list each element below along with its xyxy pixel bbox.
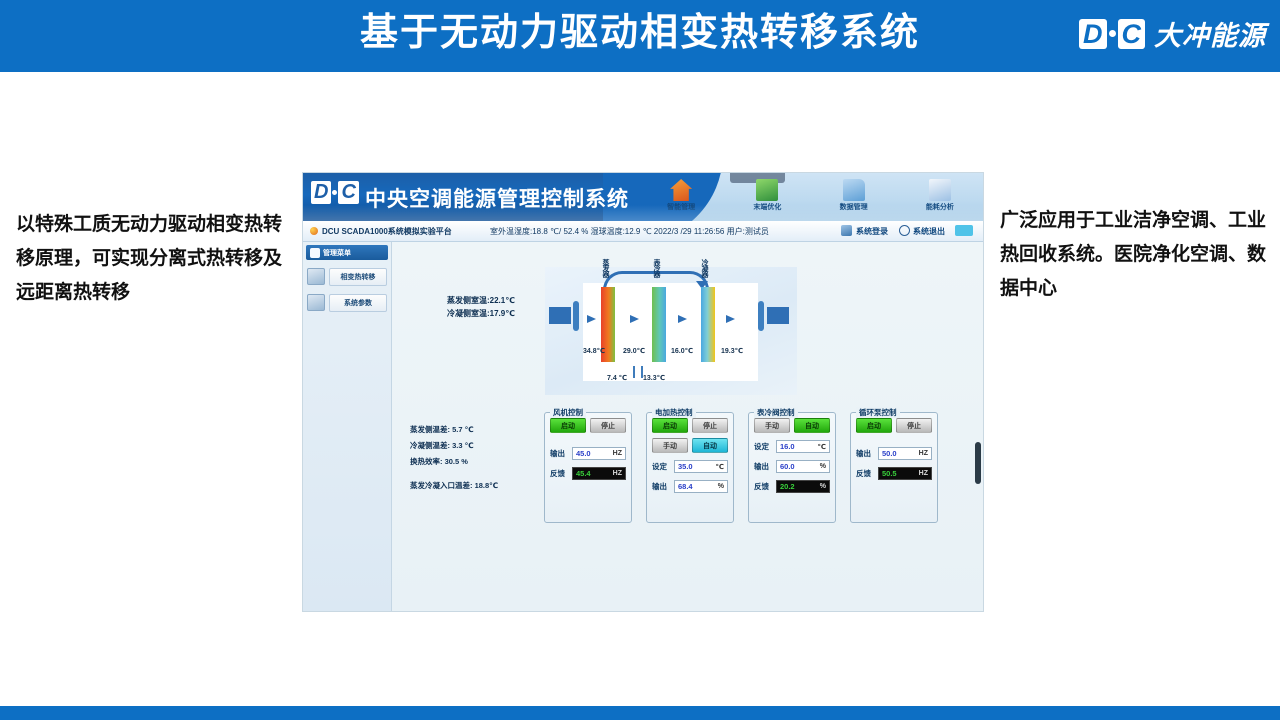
database-icon bbox=[843, 179, 865, 201]
panel-field-row: 输出 50.0 HZ bbox=[851, 447, 937, 460]
temp-readout-4: 19.3℃ bbox=[721, 347, 743, 355]
field-label: 设定 bbox=[652, 461, 670, 472]
condenser-coil bbox=[701, 287, 715, 362]
heat-exchange-efficiency: 换热效率: 30.5 % bbox=[410, 454, 498, 470]
field-label: 反馈 bbox=[856, 468, 874, 479]
field-unit: ℃ bbox=[818, 443, 826, 451]
airflow-arrow-icon bbox=[630, 315, 639, 323]
nav-label: 数据管理 bbox=[840, 202, 868, 212]
heater-setpoint-field[interactable]: 35.0 ℃ bbox=[674, 460, 728, 473]
field-value: 50.0 bbox=[882, 449, 897, 458]
panel-title: 电加热控制 bbox=[652, 407, 696, 418]
panel-fan-control: 风机控制 启动 停止 输出 45.0 HZ 反馈 bbox=[544, 412, 632, 523]
field-label: 设定 bbox=[754, 441, 772, 452]
slide-header: 基于无动力驱动相变热转移系统 D C 大冲能源 bbox=[0, 0, 1280, 72]
field-value: 16.0 bbox=[780, 442, 795, 451]
sidebar-item-phase-change[interactable]: 相变热转移 bbox=[307, 267, 387, 286]
nav-label: 智能管理 bbox=[667, 202, 695, 212]
panel-field-row: 输出 60.0 % bbox=[749, 460, 835, 473]
analysis-icon bbox=[929, 179, 951, 201]
system-logout-button[interactable]: 系统退出 bbox=[913, 226, 945, 237]
field-unit: HZ bbox=[919, 470, 928, 477]
panel-field-row: 反馈 50.5 HZ bbox=[851, 467, 937, 480]
field-label: 反馈 bbox=[550, 468, 568, 479]
pump-feedback-field: 50.5 HZ bbox=[878, 467, 932, 480]
field-label: 输出 bbox=[652, 481, 670, 492]
app-logo: D C bbox=[311, 181, 359, 204]
app-logo-dot-icon bbox=[332, 190, 337, 195]
status-chip bbox=[955, 225, 973, 236]
heater-auto-button[interactable]: 自动 bbox=[692, 438, 728, 453]
field-label: 输出 bbox=[754, 461, 772, 472]
app-banner: D C 中央空调能源管理控制系统 智能管理 末端优化 数据管理 能耗分析 bbox=[303, 173, 983, 221]
statistics-readouts: 蒸发侧温差: 5.7 ℃ 冷凝侧温差: 3.3 ℃ 换热效率: 30.5 % 蒸… bbox=[410, 422, 498, 494]
field-unit: HZ bbox=[613, 450, 622, 457]
temp-readout-3: 16.0℃ bbox=[671, 347, 693, 355]
field-value: 50.5 bbox=[882, 469, 897, 478]
heater-manual-button[interactable]: 手动 bbox=[652, 438, 688, 453]
app-logo-letter-c: C bbox=[338, 181, 358, 204]
inlet-damper-icon bbox=[573, 301, 579, 331]
panel-button-row: 启动 停止 bbox=[545, 418, 631, 433]
sidebar-header: 管理菜单 bbox=[306, 245, 388, 260]
outlet-damper-icon bbox=[758, 301, 764, 331]
field-unit: HZ bbox=[919, 450, 928, 457]
heater-stop-button[interactable]: 停止 bbox=[692, 418, 728, 433]
sidebar: 管理菜单 相变热转移 系统参数 bbox=[303, 242, 392, 611]
scada-application-window: D C 中央空调能源管理控制系统 智能管理 末端优化 数据管理 能耗分析 bbox=[302, 172, 984, 612]
environment-readout: 室外温湿度:18.8 ℃/ 52.4 % 湿球温度:12.9 ℃ 2022/3 … bbox=[490, 226, 769, 237]
panel-title: 表冷阀控制 bbox=[754, 407, 798, 418]
panel-electric-heater-control: 电加热控制 启动 停止 手动 自动 设定 35.0 ℃ bbox=[646, 412, 734, 523]
module-icon bbox=[307, 294, 325, 311]
evaporator-room-temp: 蒸发侧室温:22.1℃ bbox=[447, 294, 515, 307]
temp-readout-2: 29.0℃ bbox=[623, 347, 645, 355]
brand-letter-d: D bbox=[1079, 19, 1107, 49]
app-body: 管理菜单 相变热转移 系统参数 蒸发侧室温:22.1℃ 冷凝侧室温:17.9℃ bbox=[303, 242, 983, 611]
app-nav: 智能管理 末端优化 数据管理 能耗分析 bbox=[638, 175, 983, 221]
fan-start-button[interactable]: 启动 bbox=[550, 418, 586, 433]
field-value: 20.2 bbox=[780, 482, 795, 491]
brand-letter-c: C bbox=[1118, 19, 1146, 49]
sidebar-item-label: 相变热转移 bbox=[329, 268, 387, 286]
air-outlet-arrow-icon bbox=[767, 307, 789, 324]
heater-start-button[interactable]: 启动 bbox=[652, 418, 688, 433]
field-value: 68.4 bbox=[678, 482, 693, 491]
field-unit: ℃ bbox=[716, 463, 724, 471]
inlet-temp-diff: 蒸发冷凝入口温差: 18.8℃ bbox=[410, 478, 498, 494]
valve-output-field[interactable]: 60.0 % bbox=[776, 460, 830, 473]
surface-cooler-label: 表冷器 bbox=[652, 259, 660, 277]
status-bullet-icon bbox=[310, 227, 318, 235]
brand-dc-mark: D C bbox=[1079, 19, 1145, 49]
nav-label: 能耗分析 bbox=[926, 202, 954, 212]
fan-stop-button[interactable]: 停止 bbox=[590, 418, 626, 433]
panel-button-row: 手动 自动 bbox=[647, 438, 733, 453]
field-value: 60.0 bbox=[780, 462, 795, 471]
panel-field-row: 设定 35.0 ℃ bbox=[647, 460, 733, 473]
slide-footer bbox=[0, 706, 1280, 720]
panel-title: 循环泵控制 bbox=[856, 407, 900, 418]
sidebar-item-system-params[interactable]: 系统参数 bbox=[307, 293, 387, 312]
field-unit: % bbox=[820, 463, 826, 470]
app-logo-letter-d: D bbox=[311, 181, 331, 204]
room-temperature-readouts: 蒸发侧室温:22.1℃ 冷凝侧室温:17.9℃ bbox=[447, 294, 515, 320]
panel-button-row: 启动 停止 bbox=[647, 418, 733, 433]
panel-button-row: 手动 自动 bbox=[749, 418, 835, 433]
pump-output-field[interactable]: 50.0 HZ bbox=[878, 447, 932, 460]
air-inlet-arrow-icon bbox=[549, 307, 571, 324]
valve-feedback-field: 20.2 % bbox=[776, 480, 830, 493]
brand-logo: D C 大冲能源 bbox=[1079, 14, 1266, 53]
nav-item-intelligent-management[interactable]: 智能管理 bbox=[638, 175, 724, 221]
sidebar-header-label: 管理菜单 bbox=[323, 248, 351, 258]
nav-label: 末端优化 bbox=[753, 202, 781, 212]
temp-readout-1: 34.8℃ bbox=[583, 347, 605, 355]
process-canvas: 蒸发侧室温:22.1℃ 冷凝侧室温:17.9℃ 蒸发器 bbox=[392, 242, 983, 611]
panel-cooling-valve-control: 表冷阀控制 手动 自动 设定 16.0 ℃ 输出 bbox=[748, 412, 836, 523]
fan-output-field[interactable]: 45.0 HZ bbox=[572, 447, 626, 460]
field-label: 输出 bbox=[550, 448, 568, 459]
panel-spacer bbox=[851, 433, 937, 440]
field-value: 45.4 bbox=[576, 469, 591, 478]
nav-item-terminal-optimization[interactable]: 末端优化 bbox=[724, 175, 810, 221]
heater-output-field[interactable]: 68.4 % bbox=[674, 480, 728, 493]
valve-manual-button[interactable]: 手动 bbox=[754, 418, 790, 433]
brand-dot-icon bbox=[1109, 30, 1116, 37]
process-diagram: 蒸发器 表冷器 冷凝器 34.8℃ 29.0℃ 16.0℃ 19.3℃ 7.4 … bbox=[545, 267, 797, 395]
field-unit: % bbox=[718, 483, 724, 490]
condenser-label: 冷凝器 bbox=[700, 259, 708, 277]
valve-auto-button[interactable]: 自动 bbox=[794, 418, 830, 433]
surface-cooler-coil bbox=[652, 287, 666, 362]
nav-item-data-management[interactable]: 数据管理 bbox=[811, 175, 897, 221]
caption-left: 以特殊工质无动力驱动相变热转移原理，可实现分离式热转移及远距离热转移 bbox=[16, 208, 286, 310]
airflow-arrow-icon bbox=[726, 315, 735, 323]
module-icon bbox=[307, 268, 325, 285]
terminal-icon bbox=[756, 179, 778, 201]
condenser-room-temp: 冷凝侧室温:17.9℃ bbox=[447, 307, 515, 320]
app-title: 中央空调能源管理控制系统 bbox=[365, 183, 629, 213]
field-unit: % bbox=[820, 483, 826, 490]
field-label: 反馈 bbox=[754, 481, 772, 492]
nav-item-energy-analysis[interactable]: 能耗分析 bbox=[897, 175, 983, 221]
field-value: 45.0 bbox=[576, 449, 591, 458]
user-icon bbox=[841, 225, 852, 236]
panel-title: 风机控制 bbox=[550, 407, 586, 418]
airflow-arrow-icon bbox=[587, 315, 596, 323]
menu-icon bbox=[310, 248, 320, 258]
panel-circulation-pump-control: 循环泵控制 启动 停止 输出 50.0 HZ 反馈 bbox=[850, 412, 938, 523]
panel-field-row: 输出 45.0 HZ bbox=[545, 447, 631, 460]
fan-feedback-field: 45.4 HZ bbox=[572, 467, 626, 480]
pump-stop-button[interactable]: 停止 bbox=[896, 418, 932, 433]
field-label: 输出 bbox=[856, 448, 874, 459]
platform-name: DCU SCADA1000系统模拟实验平台 bbox=[322, 226, 452, 237]
panel-field-row: 设定 16.0 ℃ bbox=[749, 440, 835, 453]
caption-right: 广泛应用于工业洁净空调、工业热回收系统。医院净化空调、数据中心 bbox=[1000, 204, 1275, 306]
system-login-button[interactable]: 系统登录 bbox=[856, 226, 888, 237]
power-icon bbox=[899, 225, 910, 236]
panel-button-row: 启动 停止 bbox=[851, 418, 937, 433]
condenser-temp-diff: 冷凝侧温差: 3.3 ℃ bbox=[410, 438, 498, 454]
tick-marker-icon bbox=[633, 366, 635, 378]
home-icon bbox=[670, 179, 692, 201]
field-unit: HZ bbox=[613, 470, 622, 477]
evaporator-temp-diff: 蒸发侧温差: 5.7 ℃ bbox=[410, 422, 498, 438]
vertical-scrollbar[interactable] bbox=[975, 442, 981, 484]
temp-readout-bottom-2: 13.3℃ bbox=[643, 374, 665, 382]
field-value: 35.0 bbox=[678, 462, 693, 471]
pump-start-button[interactable]: 启动 bbox=[856, 418, 892, 433]
panel-field-row: 输出 68.4 % bbox=[647, 480, 733, 493]
sidebar-item-label: 系统参数 bbox=[329, 294, 387, 312]
control-panels: 风机控制 启动 停止 输出 45.0 HZ 反馈 bbox=[544, 412, 938, 523]
brand-name: 大冲能源 bbox=[1154, 14, 1266, 53]
airflow-arrow-icon bbox=[678, 315, 687, 323]
temp-readout-bottom-1: 7.4 ℃ bbox=[607, 374, 627, 382]
app-status-bar: DCU SCADA1000系统模拟实验平台 室外温湿度:18.8 ℃/ 52.4… bbox=[303, 221, 983, 242]
panel-spacer bbox=[545, 433, 631, 440]
valve-setpoint-field[interactable]: 16.0 ℃ bbox=[776, 440, 830, 453]
stats-spacer bbox=[410, 470, 498, 478]
panel-field-row: 反馈 45.4 HZ bbox=[545, 467, 631, 480]
panel-field-row: 反馈 20.2 % bbox=[749, 480, 835, 493]
evaporator-label: 蒸发器 bbox=[601, 259, 609, 277]
